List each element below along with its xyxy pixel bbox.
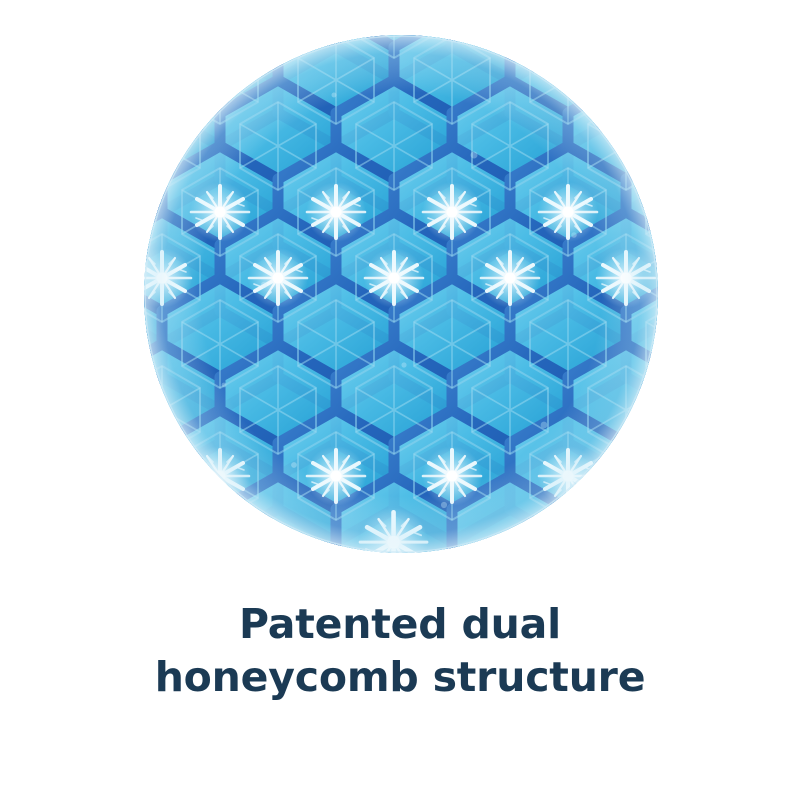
feature-caption: Patented dual honeycomb structure xyxy=(0,598,800,704)
honeycomb-image xyxy=(144,35,658,553)
caption-line-2: honeycomb structure xyxy=(0,651,800,704)
product-feature-card: Patented dual honeycomb structure xyxy=(0,0,800,800)
caption-line-1: Patented dual xyxy=(0,598,800,651)
honeycomb-circle-content xyxy=(144,35,658,553)
honeycomb-illustration xyxy=(144,35,658,553)
rim-vignette xyxy=(144,35,658,553)
